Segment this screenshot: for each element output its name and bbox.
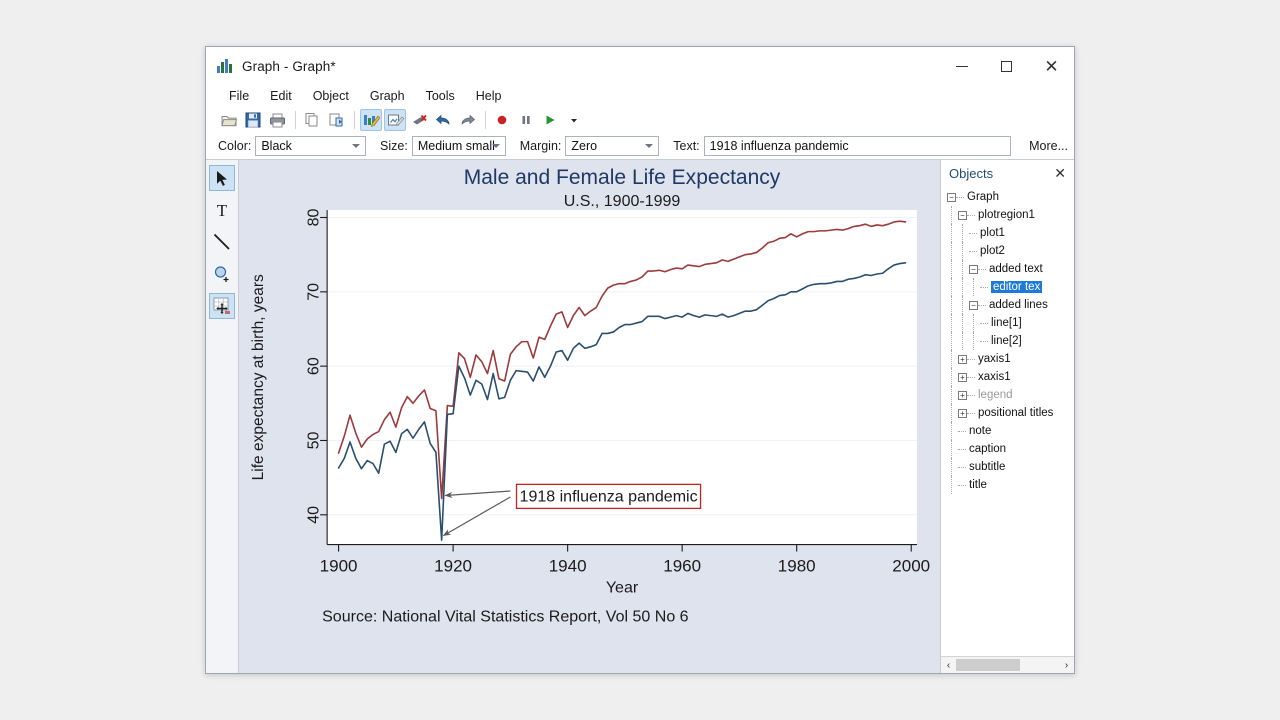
copy-icon[interactable]	[301, 109, 323, 131]
tree-item[interactable]: line[2]	[941, 332, 1074, 350]
toolbar-separator	[354, 111, 355, 129]
tree-connector	[980, 341, 988, 342]
tree-guide	[973, 278, 974, 296]
tree-item-label: plot2	[980, 245, 1005, 257]
menu-object[interactable]: Object	[303, 87, 359, 105]
tree-guide	[951, 224, 952, 242]
objects-panel: Objects ✕ −Graph−plotregion1plot1plot2−a…	[940, 160, 1074, 673]
tree-guide	[951, 386, 952, 404]
chevron-down-icon	[645, 144, 653, 148]
expand-toggle-icon[interactable]: +	[958, 355, 967, 364]
toolbar-separator	[485, 111, 486, 129]
color-value: Black	[261, 139, 292, 153]
tree-guide	[962, 296, 963, 314]
tree-guide	[951, 458, 952, 476]
line-tool[interactable]	[209, 229, 235, 255]
screen: Graph - Graph* ✕ File Edit Object Graph …	[0, 0, 1280, 720]
y-tick-label: 50	[305, 431, 323, 449]
tree-item-label: positional titles	[978, 407, 1053, 419]
properties-bar: Color: Black Size: Medium small Margin: …	[206, 133, 1074, 160]
menu-bar: File Edit Object Graph Tools Help	[206, 85, 1074, 107]
close-icon[interactable]: ✕	[1052, 166, 1068, 180]
annotation-text[interactable]: 1918 influenza pandemic	[520, 487, 698, 505]
tree-guide	[973, 332, 974, 350]
tree-connector	[967, 377, 975, 378]
tree-guide	[951, 314, 952, 332]
tree-guide	[951, 440, 952, 458]
tree-guide	[951, 260, 952, 278]
scroll-track[interactable]	[956, 659, 1059, 672]
tree-guide	[951, 296, 952, 314]
tree-item-label: title	[969, 479, 987, 491]
tree-item[interactable]: −Graph	[941, 188, 1074, 206]
tree-item[interactable]: −plotregion1	[941, 206, 1074, 224]
tree-item[interactable]: plot1	[941, 224, 1074, 242]
chart-subtitle: U.S., 1900-1999	[564, 192, 681, 210]
tree-item[interactable]: plot2	[941, 242, 1074, 260]
tree-item-label: Graph	[967, 191, 999, 203]
margin-select[interactable]: Zero	[565, 136, 659, 156]
tree-item[interactable]: note	[941, 422, 1074, 440]
redo-icon[interactable]	[456, 109, 478, 131]
tree-item[interactable]: subtitle	[941, 458, 1074, 476]
tree-item-label: added lines	[989, 299, 1048, 311]
delete-icon[interactable]	[408, 109, 430, 131]
menu-edit[interactable]: Edit	[260, 87, 302, 105]
size-value: Medium small	[418, 139, 495, 153]
maximize-button[interactable]	[984, 47, 1029, 85]
tree-item[interactable]: +legend	[941, 386, 1074, 404]
chevron-down-icon	[352, 144, 360, 148]
size-label: Size:	[380, 139, 408, 153]
x-tick-label: 1960	[663, 557, 701, 576]
tree-connector	[956, 197, 964, 198]
tool-palette: T	[206, 160, 239, 673]
tree-item-label: plot1	[980, 227, 1005, 239]
scroll-right-button[interactable]: ›	[1059, 658, 1074, 673]
tree-connector	[967, 359, 975, 360]
tree-item-label: line[1]	[991, 317, 1022, 329]
recorder-icon[interactable]	[384, 109, 406, 131]
minimize-button[interactable]	[939, 47, 984, 85]
tree-item[interactable]: caption	[941, 440, 1074, 458]
scroll-thumb[interactable]	[956, 659, 1020, 671]
tree-guide	[951, 368, 952, 386]
tree-connector	[980, 287, 988, 288]
size-select[interactable]: Medium small	[412, 136, 506, 156]
collapse-toggle-icon[interactable]: −	[969, 265, 978, 274]
x-axis-label: Year	[606, 579, 639, 597]
y-tick-label: 80	[305, 209, 323, 227]
graph-svg: Male and Female Life ExpectancyU.S., 190…	[239, 160, 940, 661]
tree-item[interactable]: +positional titles	[941, 404, 1074, 422]
text-label: Text:	[673, 139, 699, 153]
tree-guide	[962, 278, 963, 296]
tree-item-label: yaxis1	[978, 353, 1011, 365]
tree-item-label: legend	[978, 389, 1013, 401]
tree-connector	[967, 395, 975, 396]
text-input-value: 1918 influenza pandemic	[710, 139, 849, 153]
y-axis-label: Life expectancy at birth, years	[250, 274, 267, 480]
tree-connector	[978, 305, 986, 306]
tree-guide	[951, 242, 952, 260]
pause-icon[interactable]	[515, 109, 537, 131]
title-bar: Graph - Graph* ✕	[206, 47, 1074, 85]
print-icon[interactable]	[266, 109, 288, 131]
y-tick-label: 40	[305, 506, 323, 524]
tree-item[interactable]: −added text	[941, 260, 1074, 278]
tree-item-label: editor tex	[991, 281, 1042, 293]
menu-graph[interactable]: Graph	[360, 87, 415, 105]
objects-panel-scrollbar[interactable]: ‹ ›	[941, 656, 1074, 673]
scroll-left-button[interactable]: ‹	[941, 658, 956, 673]
tree-connector	[969, 251, 977, 252]
tree-item[interactable]: −added lines	[941, 296, 1074, 314]
tree-item[interactable]: title	[941, 476, 1074, 494]
open-icon[interactable]	[218, 109, 240, 131]
window-title: Graph - Graph*	[242, 59, 336, 74]
tree-guide	[951, 422, 952, 440]
x-tick-label: 1940	[549, 557, 587, 576]
tree-connector	[969, 233, 977, 234]
tree-connector	[958, 449, 966, 450]
object-tree[interactable]: −Graph−plotregion1plot1plot2−added texte…	[941, 186, 1074, 656]
expand-toggle-icon[interactable]: +	[958, 391, 967, 400]
tree-item[interactable]: +xaxis1	[941, 368, 1074, 386]
pointer-tool[interactable]	[209, 165, 235, 191]
minimize-icon	[956, 66, 968, 67]
undo-icon[interactable]	[432, 109, 454, 131]
tree-guide	[951, 350, 952, 368]
tree-connector	[980, 323, 988, 324]
tree-guide	[951, 332, 952, 350]
menu-tools[interactable]: Tools	[416, 87, 465, 105]
collapse-toggle-icon[interactable]: −	[958, 211, 967, 220]
tree-guide	[951, 404, 952, 422]
margin-label: Margin:	[520, 139, 562, 153]
tree-connector	[958, 467, 966, 468]
y-tick-label: 70	[305, 283, 323, 301]
tree-guide	[962, 260, 963, 278]
tree-item-label: plotregion1	[978, 209, 1035, 221]
close-button[interactable]: ✕	[1029, 47, 1074, 85]
tree-guide	[962, 332, 963, 350]
tree-item-label: caption	[969, 443, 1006, 455]
tree-item-label: xaxis1	[978, 371, 1011, 383]
graph-canvas-area[interactable]: Male and Female Life ExpectancyU.S., 190…	[239, 160, 940, 673]
objects-panel-header: Objects ✕	[941, 160, 1074, 186]
tree-connector	[958, 431, 966, 432]
close-icon: ✕	[1044, 58, 1058, 75]
margin-value: Zero	[571, 139, 597, 153]
tree-item-label: added text	[989, 263, 1043, 275]
tree-guide	[962, 314, 963, 332]
menu-file[interactable]: File	[219, 87, 259, 105]
tree-connector	[978, 269, 986, 270]
tree-guide	[951, 476, 952, 494]
x-tick-label: 2000	[892, 557, 930, 576]
tool-bar	[206, 107, 1074, 133]
expand-toggle-icon[interactable]: +	[958, 409, 967, 418]
tree-item[interactable]: +yaxis1	[941, 350, 1074, 368]
text-input[interactable]: 1918 influenza pandemic	[704, 136, 1011, 156]
paste-icon[interactable]	[325, 109, 347, 131]
more-button[interactable]: More...	[1023, 137, 1074, 155]
record-icon[interactable]	[491, 109, 513, 131]
collapse-toggle-icon[interactable]: −	[947, 193, 956, 202]
tree-connector	[958, 485, 966, 486]
tree-connector	[967, 413, 975, 414]
window-controls: ✕	[939, 47, 1074, 85]
menu-help[interactable]: Help	[466, 87, 512, 105]
tree-item-label: note	[969, 425, 991, 437]
collapse-toggle-icon[interactable]: −	[969, 301, 978, 310]
color-select[interactable]: Black	[255, 136, 366, 156]
tree-item[interactable]: line[1]	[941, 314, 1074, 332]
y-tick-label: 60	[305, 357, 323, 375]
play-dropdown-icon[interactable]	[563, 109, 585, 131]
color-label: Color:	[218, 139, 251, 153]
x-tick-label: 1920	[434, 557, 472, 576]
x-tick-label: 1900	[320, 557, 358, 576]
expand-toggle-icon[interactable]: +	[958, 373, 967, 382]
chart-title: Male and Female Life Expectancy	[464, 166, 781, 189]
tree-guide	[962, 224, 963, 242]
text-tool[interactable]: T	[209, 197, 235, 223]
graph-editor-window: Graph - Graph* ✕ File Edit Object Graph …	[205, 46, 1075, 674]
save-icon[interactable]	[242, 109, 264, 131]
svg-text:T: T	[217, 201, 228, 219]
grid-edit-tool[interactable]	[209, 293, 235, 319]
editor-body: T Male and Female Life ExpectancyU.S., 1…	[206, 160, 1074, 673]
marker-tool[interactable]	[209, 261, 235, 287]
toolbar-separator	[295, 111, 296, 129]
tree-item[interactable]: editor tex	[941, 278, 1074, 296]
tree-guide	[951, 278, 952, 296]
chart-note: Source: National Vital Statistics Report…	[322, 608, 689, 626]
tree-guide	[973, 314, 974, 332]
play-icon[interactable]	[539, 109, 561, 131]
tree-guide	[962, 242, 963, 260]
maximize-icon	[1001, 61, 1012, 72]
chevron-down-icon	[492, 144, 500, 148]
tree-item-label: line[2]	[991, 335, 1022, 347]
graph-editor-icon[interactable]	[360, 109, 382, 131]
tree-connector	[967, 215, 975, 216]
tree-guide	[951, 206, 952, 224]
objects-panel-title: Objects	[949, 166, 1052, 181]
x-tick-label: 1980	[778, 557, 816, 576]
graph-bar-icon	[217, 58, 233, 74]
tree-item-label: subtitle	[969, 461, 1005, 473]
